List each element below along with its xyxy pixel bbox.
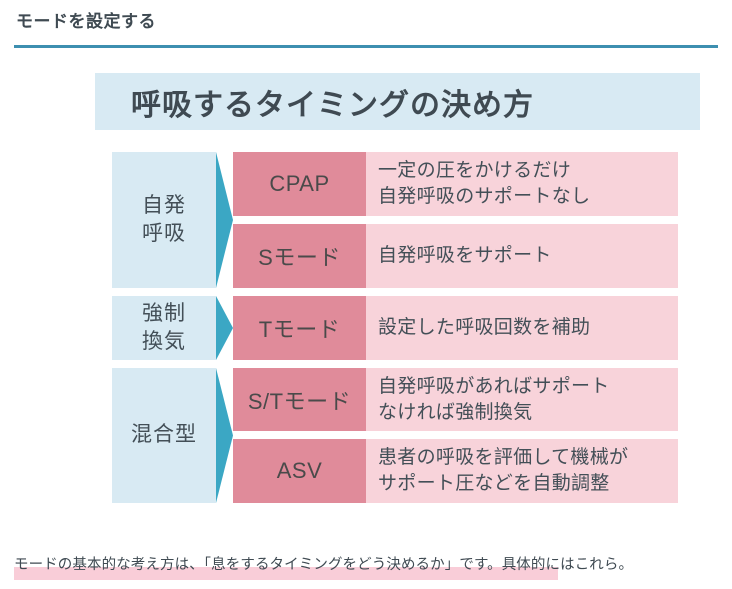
mode-name-label: Sモード bbox=[258, 240, 341, 272]
page-header: モードを設定する bbox=[0, 0, 732, 52]
mode-description-cell: 設定した呼吸回数を補助 bbox=[366, 296, 678, 360]
mode-description-cell: 自発呼吸があればサポート なければ強制換気 bbox=[366, 368, 678, 431]
mode-name-label: Tモード bbox=[259, 312, 340, 344]
category-block: 強制 換気 bbox=[112, 296, 216, 360]
mode-name-chip[interactable]: CPAP bbox=[233, 152, 366, 216]
mode-description-cell: 患者の呼吸を評価して機械が サポート圧などを自動調整 bbox=[366, 439, 678, 503]
slide-title-text: 呼吸するタイミングの決め方 bbox=[131, 80, 534, 124]
mode-description-cell: 自発呼吸をサポート bbox=[366, 224, 678, 288]
category-block: 混合型 bbox=[112, 368, 216, 503]
page-title: モードを設定する bbox=[16, 7, 156, 32]
mode-description-text: 設定した呼吸回数を補助 bbox=[366, 315, 590, 341]
mode-description-text: 患者の呼吸を評価して機械が サポート圧などを自動調整 bbox=[366, 445, 628, 496]
category-block: 自発 呼吸 bbox=[112, 152, 216, 288]
mode-description-text: 一定の圧をかけるだけ 自発呼吸のサポートなし bbox=[366, 158, 590, 209]
mode-description-cell: 一定の圧をかけるだけ 自発呼吸のサポートなし bbox=[366, 152, 678, 216]
category-arrow-icon bbox=[216, 152, 233, 288]
category-label: 混合型 bbox=[131, 421, 197, 449]
mode-name-label: CPAP bbox=[269, 171, 329, 197]
mode-name-label: S/Tモード bbox=[248, 384, 351, 416]
caption-area: モードの基本的な考え方は、「息をするタイミングをどう決めるか」です。具体的にはこ… bbox=[0, 540, 732, 589]
slide-title-banner: 呼吸するタイミングの決め方 bbox=[95, 73, 700, 130]
mode-description-text: 自発呼吸をサポート bbox=[366, 243, 552, 269]
mode-name-chip[interactable]: S/Tモード bbox=[233, 368, 366, 431]
caption-text: モードの基本的な考え方は、「息をするタイミングをどう決めるか」です。具体的にはこ… bbox=[14, 553, 633, 574]
mode-description-text: 自発呼吸があればサポート なければ強制換気 bbox=[366, 374, 610, 425]
header-divider bbox=[14, 45, 718, 48]
category-arrow-icon bbox=[216, 296, 233, 360]
category-arrow-icon bbox=[216, 368, 233, 503]
mode-name-chip[interactable]: Sモード bbox=[233, 224, 366, 288]
mode-name-chip[interactable]: ASV bbox=[233, 439, 366, 503]
mode-name-label: ASV bbox=[277, 458, 323, 484]
mode-name-chip[interactable]: Tモード bbox=[233, 296, 366, 360]
category-label: 強制 換気 bbox=[142, 300, 186, 357]
category-label: 自発 呼吸 bbox=[142, 192, 186, 249]
